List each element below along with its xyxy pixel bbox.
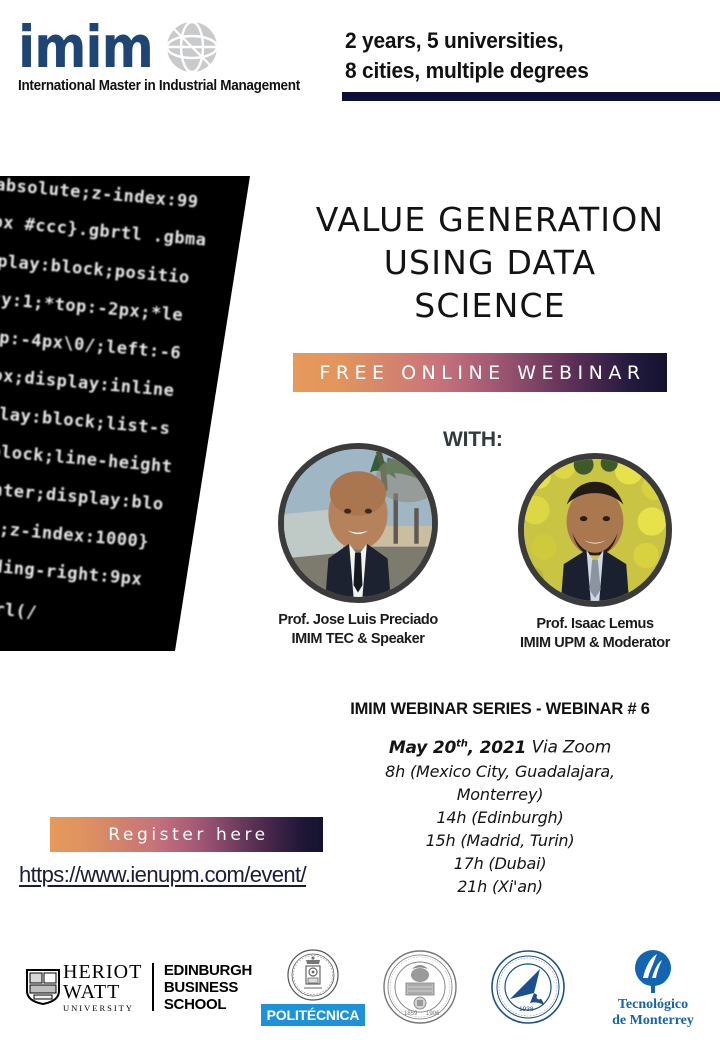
speaker-role: IMIM TEC & Speaker [268,630,448,649]
heriot-watt-line-2: WATT [63,982,142,1002]
event-time-line: 8h (Mexico City, Guadalajara, [330,760,670,783]
free-webinar-banner: FREE ONLINE WEBINAR [293,353,667,392]
event-date-ordinal: th [456,738,468,749]
event-time-line: 15h (Madrid, Turin) [330,829,670,852]
code-line: dourl(/ [0,597,38,623]
header-tagline: 2 years, 5 universities, 8 cities, multi… [345,26,589,86]
heriot-watt-divider [152,963,154,1011]
ebs-line-1: EDINBURGH [164,962,252,979]
code-background-image: ion:absolute;z-index:99 x 5px #ccc}.gbrt… [0,176,250,651]
northwestern-polytechnical-logo: 1938 [490,949,566,1025]
imim-logo: imim International Master in Industrial … [18,14,318,94]
imim-logo-subtitle: International Master in Industrial Manag… [18,78,297,94]
code-line: ne-block;line-height [0,439,173,478]
code-line: ion:absolute;z-index:99 [0,176,199,213]
code-line: pointer;display:blo [0,477,164,515]
globe-icon [165,20,219,74]
heriot-watt-name: HERIOT WATT UNIVERSITY [63,962,142,1013]
code-line: e-box;display:inline [0,363,175,402]
tagline-line-2: 8 cities, multiple degrees [345,56,589,86]
event-date-main: May 20 [389,738,456,758]
upm-politecnica-band: POLITÉCNICA [261,1004,366,1026]
code-line: display:block;list-s [0,401,171,440]
logo-row: imim [18,14,318,76]
header-divider-rule [342,92,720,101]
code-line: tive;z-index:1000} [0,516,150,553]
svg-text:1859: 1859 [404,1011,418,1017]
speaker-avatar [278,443,438,603]
svg-text:1938: 1938 [519,1006,534,1013]
politecnico-torino-logo: 1859 1906 [382,949,458,1025]
ebs-line-2: BUSINESS [164,979,252,996]
free-webinar-banner-label: FREE ONLINE WEBINAR [314,362,645,384]
with-label: WITH: [443,428,503,452]
event-date-line: May 20th, 2021 Via Zoom [330,732,670,760]
speaker-avatar [518,453,672,607]
svg-text:1906: 1906 [426,1011,440,1017]
heriot-watt-line-3: UNIVERSITY [63,1004,142,1013]
ebs-line-3: SCHOOL [164,996,252,1013]
speaker-name: Prof. Isaac Lemus [505,615,685,634]
code-line: x 5px #ccc}.gbrtl .gbma [0,209,207,250]
speaker-name: Prof. Jose Luis Preciado [268,611,448,630]
code-line: /;top:-4px\0/;left:-6 [0,324,182,364]
speaker-card: Prof. Jose Luis Preciado IMIM TEC & Spea… [268,443,448,649]
tagline-line-1: 2 years, 5 universities, [345,26,589,56]
upm-crest-icon [286,948,340,1002]
tec-line-1: Tecnológico [612,997,694,1013]
code-line: padding-right:9px [0,554,143,590]
event-time-line: Monterrey) [330,783,670,806]
event-date: May 20th, 2021 [389,738,526,758]
heriot-watt-inner: HERIOT WATT UNIVERSITY EDINBURGH BUSINES… [26,962,252,1013]
speaker-photo [524,459,666,601]
webinar-series-title: IMIM WEBINAR SERIES - WEBINAR # 6 [300,700,700,719]
register-button[interactable]: Register here [50,817,323,852]
code-line: acity:1;*top:-2px;*le [0,286,184,326]
event-date-year: , 2021 [468,738,527,758]
code-line: ;display:block;positio [0,248,191,289]
upm-logo: POLITÉCNICA [263,941,363,1033]
register-button-label: Register here [104,825,269,845]
tec-line-2: de Monterrey [612,1013,694,1029]
edinburgh-business-school-name: EDINBURGH BUSINESS SCHOOL [164,962,252,1013]
event-time-line: 17h (Dubai) [330,852,670,875]
page-title: VALUE GENERATION USING DATA SCIENCE [280,198,700,327]
imim-wordmark: imim [18,18,153,76]
tecnologico-monterrey-logo: Tecnológico de Monterrey [600,947,706,1029]
register-link[interactable]: https://www.ienupm.com/event/ [19,862,306,888]
event-details: May 20th, 2021 Via Zoom 8h (Mexico City,… [330,732,670,898]
speaker-card: Prof. Isaac Lemus IMIM UPM & Moderator [505,453,685,653]
tec-monterrey-name: Tecnológico de Monterrey [612,997,694,1029]
politecnico-torino-seal-icon: 1859 1906 [382,949,458,1025]
nwpu-seal-icon: 1938 [490,949,566,1025]
tec-monterrey-mark-icon [629,948,677,996]
title-line-3: SCIENCE [280,284,700,327]
partner-logos: HERIOT WATT UNIVERSITY EDINBURGH BUSINES… [0,935,720,1040]
page-header: imim International Master in Industrial … [0,0,720,115]
speaker-role: IMIM UPM & Moderator [505,634,685,653]
heriot-watt-crest-icon [26,969,60,1005]
event-platform: Via Zoom [532,738,612,758]
event-time-line: 21h (Xi'an) [330,875,670,898]
speaker-photo [284,449,432,597]
heriot-watt-line-1: HERIOT [63,962,142,982]
title-line-1: VALUE GENERATION [280,198,700,241]
title-line-2: USING DATA [280,241,700,284]
event-time-line: 14h (Edinburgh) [330,806,670,829]
heriot-watt-logo: HERIOT WATT UNIVERSITY EDINBURGH BUSINES… [24,955,254,1019]
